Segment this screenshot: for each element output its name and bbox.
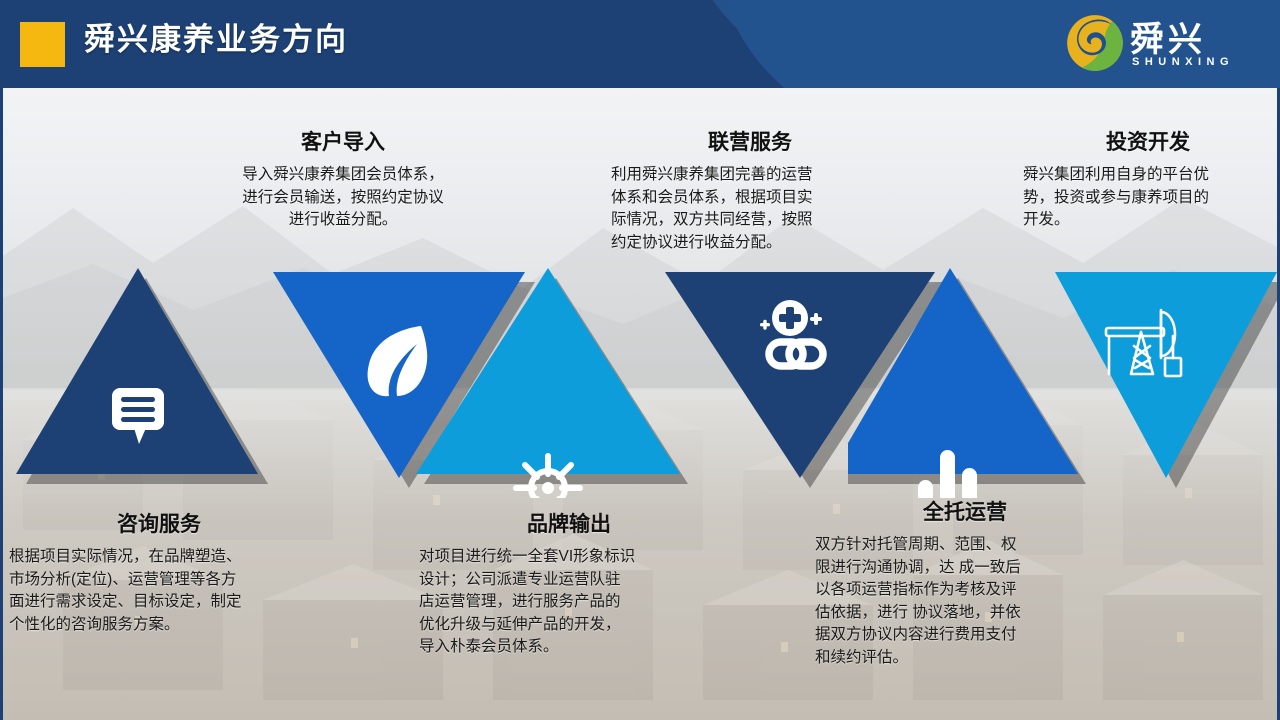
block-title: 投资开发 <box>1023 130 1273 155</box>
block-description: 根据项目实际情况，在品牌塑造、 市场分析(定位)、运营管理等各方 面进行需求设定… <box>9 546 309 636</box>
block-description: 导入舜兴康养集团会员体系， 进行会员输送，按照约定协议 进行收益分配。 <box>203 164 483 231</box>
triangle-consulting[interactable] <box>8 266 278 496</box>
slide-header: 舜兴康养业务方向 舜兴 SHUNXING <box>0 0 1280 88</box>
block-description: 舜兴集团利用自身的平台优 势，投资或参与康养项目的 开发。 <box>1023 164 1273 231</box>
block-title: 品牌输出 <box>419 512 719 537</box>
block-title: 全托运营 <box>815 500 1115 525</box>
logo-chinese-name: 舜兴 <box>1130 12 1206 61</box>
header-accent-square <box>20 22 65 67</box>
block-description: 对项目进行统一全套VI形象标识 设计；公司派遣专业运营队驻 店运营管理，进行服务… <box>419 546 719 658</box>
page-title: 舜兴康养业务方向 <box>84 14 348 59</box>
block-description: 利用舜兴康养集团完善的运营 体系和会员体系，根据项目实 际情况，双方共同经营，按… <box>611 164 889 254</box>
logo-english-name: SHUNXING <box>1132 56 1234 68</box>
slide-body: 客户导入 导入舜兴康养集团会员体系， 进行会员输送，按照约定协议 进行收益分配。… <box>0 88 1280 720</box>
company-logo: 舜兴 SHUNXING <box>1066 8 1266 80</box>
block-brand-output: 品牌输出 对项目进行统一全套VI形象标识 设计；公司派遣专业运营队驻 店运营管理… <box>419 512 719 659</box>
logo-swirl-icon <box>1066 14 1124 72</box>
block-description: 双方针对托管周期、范围、权 限进行沟通协调，达 成一致后 以各项运营指标作为考核… <box>815 534 1115 669</box>
block-joint-operation: 联营服务 利用舜兴康养集团完善的运营 体系和会员体系，根据项目实 际情况，双方共… <box>611 130 889 254</box>
block-investment-development: 投资开发 舜兴集团利用自身的平台优 势，投资或参与康养项目的 开发。 <box>1023 130 1273 232</box>
block-title: 联营服务 <box>611 130 889 155</box>
block-title: 客户导入 <box>203 130 483 155</box>
block-title: 咨询服务 <box>9 512 309 537</box>
block-customer-import: 客户导入 导入舜兴康养集团会员体系， 进行会员输送，按照约定协议 进行收益分配。 <box>203 130 483 232</box>
slide-root: 舜兴康养业务方向 舜兴 SHUNXING <box>0 0 1280 720</box>
block-consulting: 咨询服务 根据项目实际情况，在品牌塑造、 市场分析(定位)、运营管理等各方 面进… <box>9 512 309 636</box>
block-full-trust-operation: 全托运营 双方针对托管周期、范围、权 限进行沟通协调，达 成一致后 以各项运营指… <box>815 500 1115 669</box>
triangle-investment-development[interactable] <box>1043 266 1280 501</box>
